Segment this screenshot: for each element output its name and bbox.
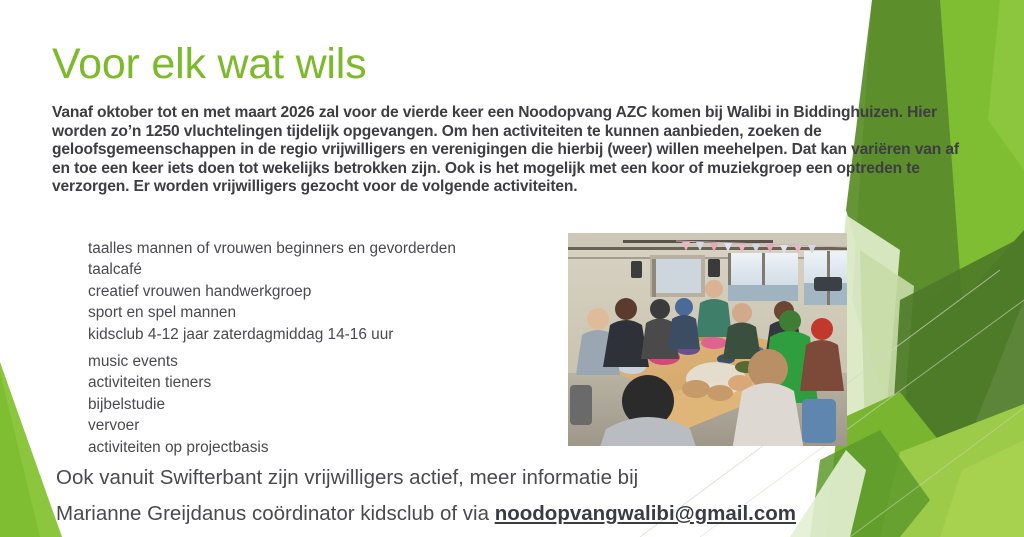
list-item: music events xyxy=(88,351,269,372)
closing-line-two-prefix: Marianne Greijdanus coördinator kidsclub… xyxy=(56,502,495,525)
closing-line-one: Ook vanuit Swifterbant zijn vrijwilliger… xyxy=(56,466,638,491)
email-link[interactable]: noodopvangwalibi@gmail.com xyxy=(495,502,796,525)
list-item: sport en spel mannen xyxy=(88,302,456,323)
list-item: taalles mannen of vrouwen beginners en g… xyxy=(88,238,456,259)
list-item: bijbelstudie xyxy=(88,394,269,415)
list-item: activiteiten op projectbasis xyxy=(88,437,269,458)
list-item: taalcafé xyxy=(88,259,456,280)
list-item: creatief vrouwen handwerkgroep xyxy=(88,281,456,302)
slide-content: Voor elk wat wils Vanaf oktober tot en m… xyxy=(0,0,1024,537)
closing-line-two: Marianne Greijdanus coördinator kidsclub… xyxy=(56,502,796,527)
activity-list-secondary: music events activiteiten tieners bijbel… xyxy=(88,351,269,458)
list-item: kidsclub 4-12 jaar zaterdagmiddag 14-16 … xyxy=(88,324,456,345)
intro-paragraph: Vanaf oktober tot en met maart 2026 zal … xyxy=(52,104,972,197)
slide-canvas: Voor elk wat wils Vanaf oktober tot en m… xyxy=(0,0,1024,537)
handicraft-group-photo xyxy=(568,233,847,446)
activity-list-primary: taalles mannen of vrouwen beginners en g… xyxy=(88,238,456,345)
list-item: vervoer xyxy=(88,415,269,436)
list-item: activiteiten tieners xyxy=(88,372,269,393)
page-title: Voor elk wat wils xyxy=(52,42,366,87)
